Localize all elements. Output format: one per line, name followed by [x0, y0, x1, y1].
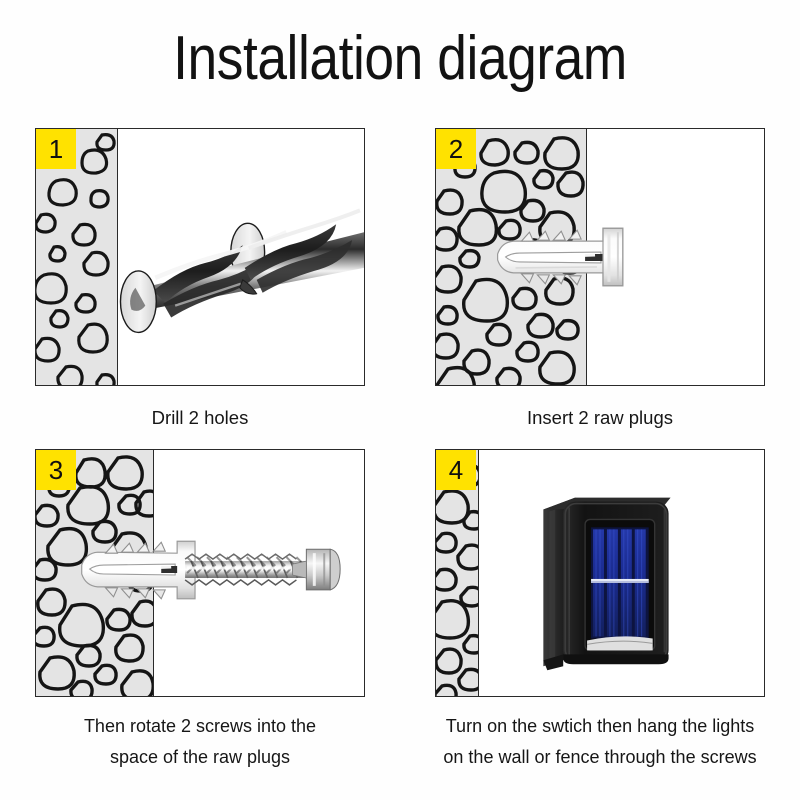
step-2-caption: Insert 2 raw plugs	[420, 402, 780, 433]
step-2-panel: 2	[435, 128, 765, 386]
caption-line: Insert 2 raw plugs	[420, 402, 780, 433]
step-3: 3	[0, 449, 400, 773]
step-4: 4	[400, 449, 800, 773]
caption-line: Turn on the swtich then hang the lights	[420, 711, 780, 742]
step-number-badge: 3	[36, 450, 76, 490]
steps-row-top: 1	[0, 128, 800, 433]
step-3-panel: 3	[35, 449, 365, 697]
page-title: Installation diagram	[56, 22, 744, 96]
caption-line: on the wall or fence through the screws	[420, 742, 780, 773]
steps-row-bottom: 3	[0, 449, 800, 773]
caption-line: Then rotate 2 screws into the	[20, 711, 380, 742]
caption-line: space of the raw plugs	[20, 742, 380, 773]
step-1-panel: 1	[35, 128, 365, 386]
step-2: 2	[400, 128, 800, 433]
step-1: 1	[0, 128, 400, 433]
step-4-panel: 4	[435, 449, 765, 697]
step-number-badge: 2	[436, 129, 476, 169]
step-number-badge: 1	[36, 129, 76, 169]
solar-light-icon	[436, 450, 764, 696]
steps-grid: 1	[0, 128, 800, 773]
caption-line: Drill 2 holes	[20, 402, 380, 433]
step-number-badge: 4	[436, 450, 476, 490]
step-4-caption: Turn on the swtich then hang the lights …	[420, 711, 780, 773]
step-1-caption: Drill 2 holes	[20, 402, 380, 433]
installation-diagram-page: Installation diagram	[0, 0, 800, 800]
step-3-caption: Then rotate 2 screws into the space of t…	[20, 711, 380, 773]
